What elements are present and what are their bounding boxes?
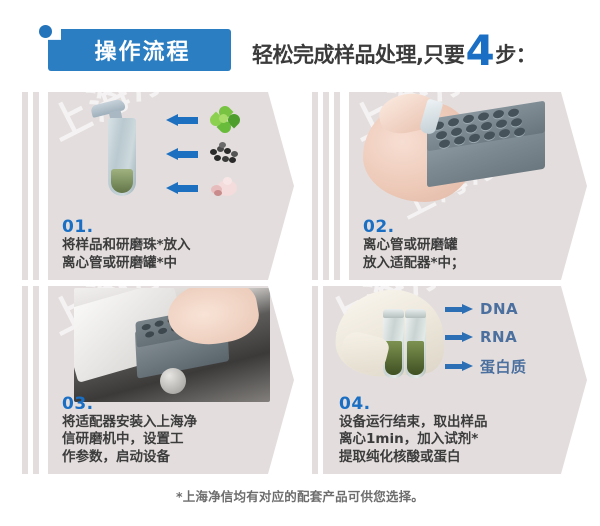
step-caption: 01. 将样品和研磨珠*放入 离心管或研磨罐*中 [62,218,264,272]
accent-bars [312,92,340,280]
step-description: 将适配器安装入上海净 信研磨机中，设置工 作参数，启动设备 [62,414,264,466]
arrow-right-icon [445,361,473,372]
step-number: 02. [363,218,557,237]
accent-bars [22,286,39,474]
step-illustration-04: DNA RNA 蛋白质 [325,286,587,404]
step-line: 设备运行结束，取出样品 [339,414,557,431]
step-illustration-03 [48,286,294,404]
step-card-03: 上海净信 03. [22,286,294,474]
step-line: 离心管或研磨罐*中 [62,255,264,272]
sample-tube [405,316,426,378]
output-list: DNA RNA 蛋白质 [445,300,527,377]
tube-cap [383,309,404,318]
step-line: 将适配器安装入上海净 [62,414,264,431]
accent-bar [312,92,318,280]
step-line: 放入适配器*中； [363,255,557,272]
step-description: 将样品和研磨珠*放入 离心管或研磨罐*中 [62,237,264,272]
sample-row-plant [166,106,242,134]
output-row: DNA [445,300,527,318]
step-number: 01. [62,218,264,237]
accent-bars [22,92,39,280]
accent-bar [312,286,318,474]
step-line: 将样品和研磨珠*放入 [62,237,264,254]
output-label: RNA [480,328,517,346]
grinder-machine-photo [74,288,270,402]
accent-bar [22,286,28,474]
page-header: 操作流程 轻松完成样品处理,只要 4 步： [0,0,600,88]
accent-bar [22,92,28,280]
step-caption: 03. 将适配器安装入上海净 信研磨机中，设置工 作参数，启动设备 [62,395,264,466]
machine-knob [160,368,186,394]
sample-tubes-photo [335,290,457,400]
headline: 轻松完成样品处理,只要 4 步： [252,31,536,69]
step-panel: 上海净信 [48,92,294,280]
output-label: DNA [480,300,518,318]
headline-suffix: 步： [495,39,536,69]
step-card-04: 上海净信 DNA [312,286,587,474]
accent-bar [33,286,39,474]
arrow-left-icon [166,114,198,126]
tissue-icon [208,174,242,202]
sample-row-beads [166,140,242,168]
step-caption: 04. 设备运行结束，取出样品 离心1min，加入试剂* 提取纯化核酸或蛋白 [339,395,557,466]
headline-step-count: 4 [465,34,494,68]
output-row: RNA [445,328,527,346]
step-card-01: 上海净信 [22,92,294,280]
step-number: 03. [62,395,264,414]
footnote: *上海净信均有对应的配套产品可供您选择。 [0,486,600,505]
tube-liquid [111,169,133,193]
arrow-left-icon [166,148,198,160]
step-line: 提取纯化核酸或蛋白 [339,449,557,466]
step-number: 04. [339,395,557,414]
section-title: 操作流程 [48,29,231,71]
plant-icon [208,106,242,134]
step-illustration-02 [349,92,587,210]
step-illustration-01 [48,92,294,210]
centrifuge-tube-icon [86,100,144,204]
grinding-beads-icon [208,140,242,168]
arrow-right-icon [445,332,473,343]
step-panel: 上海净信 03. [48,286,294,474]
arrow-left-icon [166,182,198,194]
step-caption: 02. 离心管或研磨罐 放入适配器*中； [363,218,557,272]
step-card-02: 上海净信 上海净信 [312,92,587,280]
output-row: 蛋白质 [445,356,527,377]
step-line: 作参数，启动设备 [62,449,264,466]
step-description: 设备运行结束，取出样品 离心1min，加入试剂* 提取纯化核酸或蛋白 [339,414,557,466]
step-line: 离心1min，加入试剂* [339,431,557,448]
adapter-block-photo [363,94,573,208]
step-description: 离心管或研磨罐 放入适配器*中； [363,237,557,272]
tube-body [108,118,136,196]
accent-bar [323,92,329,280]
sample-row-tissue [166,174,242,202]
tube-cap [405,309,426,318]
tube-liquid [407,341,424,375]
arrow-right-icon [445,304,473,315]
output-label: 蛋白质 [480,356,527,377]
accent-bar [33,92,39,280]
step-line: 信研磨机中，设置工 [62,431,264,448]
step-panel: 上海净信 上海净信 [349,92,587,280]
accent-bar [334,92,340,280]
step-panel: 上海净信 DNA [325,286,587,474]
steps-grid: 上海净信 [0,88,600,480]
step-line: 离心管或研磨罐 [363,237,557,254]
headline-prefix: 轻松完成样品处理,只要 [252,39,464,69]
